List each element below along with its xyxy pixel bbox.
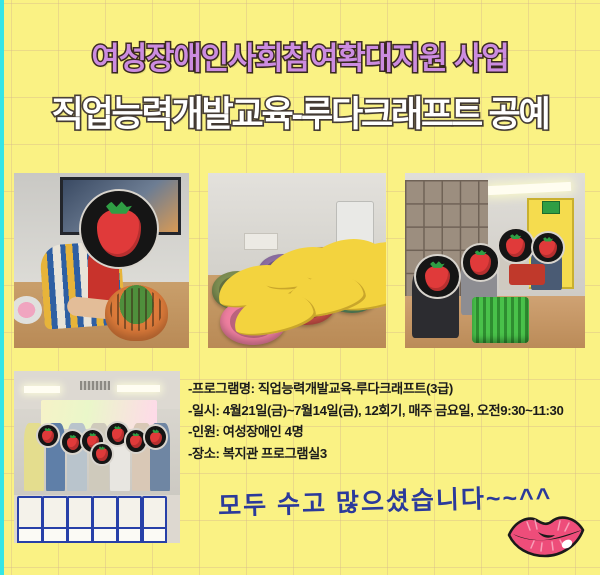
program-info-block: -프로그램명: 직업능력개발교육-루다크래프트(3급) -일시: 4월21일(금… (188, 378, 596, 464)
ceiling-light (24, 386, 61, 393)
poster-title-line-2: 직업능력개발교육-루다크래프트 공예 (0, 86, 600, 137)
lips-sticker (505, 508, 587, 560)
poster-title-line-1: 여성장애인사회참여확대지원 사업 (0, 33, 600, 78)
info-line-program-name: -프로그램명: 직업능력개발교육-루다크래프트(3급) (188, 378, 596, 400)
yarn-bundle (14, 296, 42, 324)
strawberry-face-sticker (414, 254, 461, 300)
certificate-folder (67, 527, 93, 543)
woven-basket-in-progress (105, 285, 168, 341)
strawberry-face-sticker (497, 227, 535, 264)
photo-weaving (14, 173, 189, 348)
left-accent-strip (0, 0, 4, 575)
wall-outlet (244, 233, 278, 251)
photo-group (14, 371, 180, 543)
ceiling-vent (80, 381, 110, 390)
red-craft-tray (509, 264, 545, 285)
info-line-location: -장소: 복지관 프로그램실3 (188, 443, 596, 465)
handwritten-message: 모두 수고 많으셨습니다~~^^ (218, 477, 553, 522)
certificate-folder (17, 527, 43, 543)
poster-canvas: 여성장애인사회참여확대지원 사업 직업능력개발교육-루다크래프트 공예 (0, 0, 600, 575)
photo-classroom (405, 173, 585, 348)
info-line-schedule: -일시: 4월21일(금)~7월14일(금), 12회기, 매주 금요일, 오전… (188, 400, 596, 422)
info-line-participants: -인원: 여성장애인 4명 (188, 421, 596, 443)
exit-sign (542, 201, 560, 214)
strawberry-face-sticker (531, 231, 565, 264)
ceiling-light (117, 385, 160, 392)
photo-baskets (208, 173, 386, 348)
certificate-folder (117, 527, 143, 543)
certificate-folder (142, 527, 168, 543)
certificate-folder (92, 527, 118, 543)
strawberry-face-sticker (79, 189, 160, 270)
certificate-folder (42, 527, 68, 543)
green-woven-basket (472, 297, 530, 343)
strawberry-face-sticker (461, 243, 501, 282)
